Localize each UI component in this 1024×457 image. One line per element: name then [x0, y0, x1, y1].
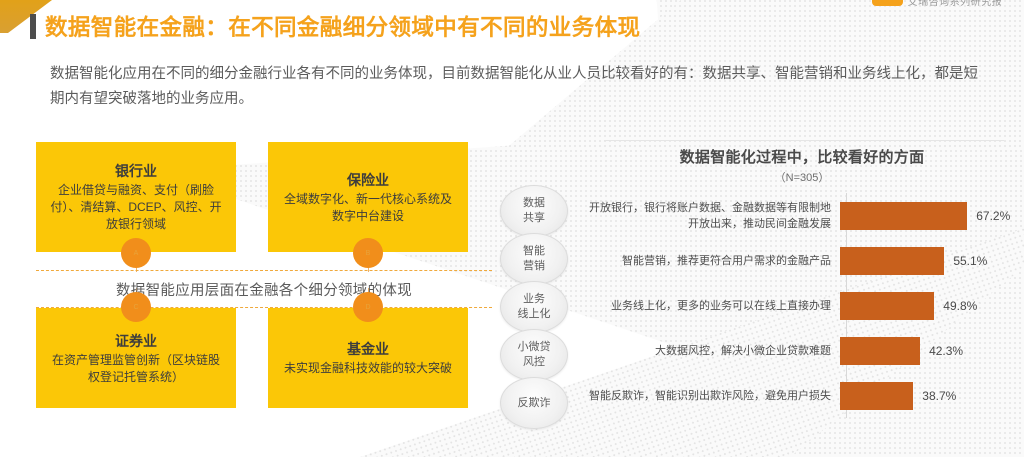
- card-fund[interactable]: 基金业 未实现金融科技效能的较大突破: [268, 308, 468, 408]
- chart-bar-value: 55.1%: [953, 254, 987, 268]
- slide-root: 艾瑞咨询系列研究报告 数据智能在金融：在不同金融细分领域中有不同的业务体现 数据…: [0, 0, 1024, 457]
- bar-chart: 数据智能化过程中，比较看好的方面 （N=305） 开放银行，银行将账户数据、金融…: [588, 140, 1016, 430]
- pill-smart-marketing[interactable]: 智能 营销: [500, 233, 568, 285]
- title-accent-bar: [30, 14, 36, 39]
- logo-mark-icon: [872, 0, 903, 6]
- chart-row-label: 智能营销，推荐更符合用户需求的金融产品: [588, 253, 840, 269]
- chart-row: 大数据风控，解决小微企业贷款难题42.3%: [588, 328, 1016, 373]
- pill-anti-fraud-line1: 反欺诈: [518, 396, 551, 411]
- card-insurance-desc: 全域数字化、新一代核心系统及数字中台建设: [280, 191, 456, 225]
- pill-micro-loan-risk-line1: 小微贷: [518, 340, 551, 355]
- title-text: 数据智能在金融：在不同金融细分领域中有不同的业务体现: [45, 10, 640, 42]
- capability-pill-list: 数据 共享 智能 营销 业务 线上化 小微贷 风控 反欺诈: [500, 185, 576, 425]
- page-title: 数据智能在金融：在不同金融细分领域中有不同的业务体现: [30, 10, 640, 42]
- card-security[interactable]: 证券业 在资产管理监管创新（区块链股权登记托管系统）: [36, 308, 236, 408]
- card-bank-desc: 企业借贷与融资、支付（刷脸付）、清结算、DCEP、风控、开放银行领域: [48, 182, 224, 233]
- chart-bar-value: 67.2%: [976, 209, 1010, 223]
- pill-micro-loan-risk[interactable]: 小微贷 风控: [500, 329, 568, 381]
- pill-smart-marketing-line2: 营销: [523, 259, 545, 274]
- badge-circle-security: C: [121, 292, 151, 322]
- chart-row: 开放银行，银行将账户数据、金融数据等有限制地开放出来，推动民间金融发展67.2%: [588, 193, 1016, 238]
- chart-bar[interactable]: [840, 247, 944, 275]
- chart-plot-area: 开放银行，银行将账户数据、金融数据等有限制地开放出来，推动民间金融发展67.2%…: [588, 193, 1016, 425]
- chart-bar-value: 42.3%: [929, 344, 963, 358]
- card-fund-desc: 未实现金融科技效能的较大突破: [284, 360, 452, 377]
- badge-circle-fund: D: [353, 292, 383, 322]
- chart-subtitle: （N=305）: [588, 169, 1016, 185]
- pill-business-online-line2: 线上化: [518, 307, 551, 322]
- intro-paragraph: 数据智能化应用在不同的细分金融行业各有不同的业务体现，目前数据智能化从业人员比较…: [50, 62, 986, 112]
- chart-bar[interactable]: [840, 382, 913, 410]
- chart-row-label: 开放银行，银行将账户数据、金融数据等有限制地开放出来，推动民间金融发展: [588, 200, 840, 232]
- logo-text: 艾瑞咨询系列研究报告: [908, 0, 1002, 6]
- chart-row: 业务线上化，更多的业务可以在线上直接办理49.8%: [588, 283, 1016, 328]
- badge-circle-insurance: B: [353, 238, 383, 268]
- diagram-middle-band: 数据智能应用层面在金融各个细分领域的体现: [36, 270, 492, 308]
- chart-row-label: 业务线上化，更多的业务可以在线上直接办理: [588, 298, 840, 314]
- chart-row: 智能反欺诈，智能识别出欺诈风险，避免用户损失38.7%: [588, 373, 1016, 418]
- card-security-title: 证券业: [115, 331, 157, 351]
- pill-smart-marketing-line1: 智能: [523, 244, 545, 259]
- chart-bar[interactable]: [840, 337, 920, 365]
- pill-data-sharing[interactable]: 数据 共享: [500, 185, 568, 237]
- card-bank-title: 银行业: [115, 161, 157, 181]
- pill-anti-fraud[interactable]: 反欺诈: [500, 377, 568, 429]
- chart-row-label: 大数据风控，解决小微企业贷款难题: [588, 343, 840, 359]
- chart-bar-wrap: 55.1%: [840, 247, 1016, 275]
- chart-bar[interactable]: [840, 202, 967, 230]
- chart-row-label: 智能反欺诈，智能识别出欺诈风险，避免用户损失: [588, 388, 840, 404]
- pill-business-online[interactable]: 业务 线上化: [500, 281, 568, 333]
- chart-title: 数据智能化过程中，比较看好的方面: [588, 146, 1016, 167]
- chart-bar[interactable]: [840, 292, 934, 320]
- chart-bar-wrap: 42.3%: [840, 337, 1016, 365]
- card-security-desc: 在资产管理监管创新（区块链股权登记托管系统）: [48, 352, 224, 386]
- badge-circle-bank: A: [121, 238, 151, 268]
- card-fund-title: 基金业: [347, 339, 389, 359]
- pill-business-online-line1: 业务: [523, 292, 545, 307]
- chart-bar-value: 49.8%: [943, 299, 977, 313]
- pill-data-sharing-line1: 数据: [523, 196, 545, 211]
- chart-bar-wrap: 38.7%: [840, 382, 1016, 410]
- card-insurance[interactable]: 保险业 全域数字化、新一代核心系统及数字中台建设: [268, 142, 468, 252]
- industry-diagram: 银行业 企业借贷与融资、支付（刷脸付）、清结算、DCEP、风控、开放银行领域 保…: [36, 140, 492, 412]
- chart-row: 智能营销，推荐更符合用户需求的金融产品55.1%: [588, 238, 1016, 283]
- card-bank[interactable]: 银行业 企业借贷与融资、支付（刷脸付）、清结算、DCEP、风控、开放银行领域: [36, 142, 236, 252]
- chart-top-rule: [604, 140, 1004, 141]
- pill-data-sharing-line2: 共享: [523, 211, 545, 226]
- chart-bar-wrap: 49.8%: [840, 292, 1016, 320]
- brand-logo: 艾瑞咨询系列研究报告: [872, 0, 1002, 10]
- pill-micro-loan-risk-line2: 风控: [523, 355, 545, 370]
- chart-bar-value: 38.7%: [922, 389, 956, 403]
- card-insurance-title: 保险业: [347, 170, 389, 190]
- chart-rows: 开放银行，银行将账户数据、金融数据等有限制地开放出来，推动民间金融发展67.2%…: [588, 193, 1016, 418]
- chart-bar-wrap: 67.2%: [840, 202, 1016, 230]
